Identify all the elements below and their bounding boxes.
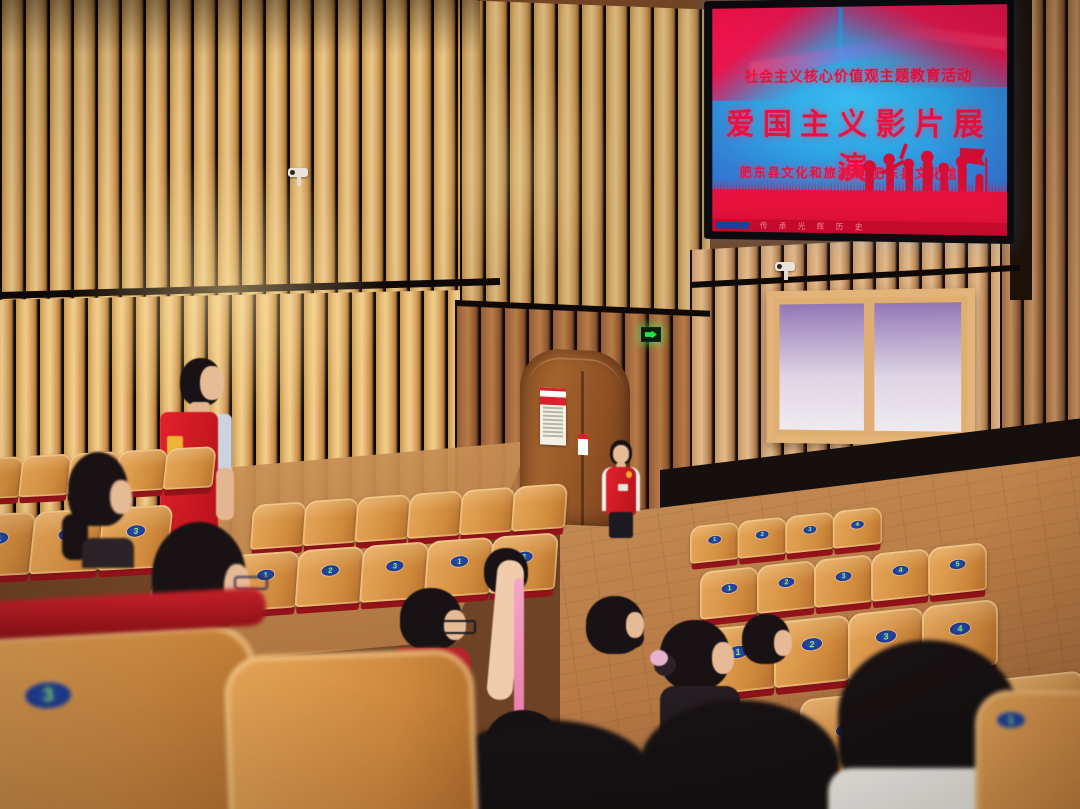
seat[interactable] [354,494,411,543]
seat[interactable]: 4 [871,548,930,602]
fire-alarm-sign [578,434,588,455]
id-badge [618,484,628,491]
led-screen-content: 社会主义核心价值观主题教育活动 爱国主义影片展演 肥东县文化和旅游局 肥东县文化… [712,4,1007,236]
seat[interactable] [407,490,464,539]
face [110,480,132,514]
pink-toy-wand [514,578,524,728]
seat-number-badge: 1 [997,712,1025,728]
trousers [609,512,633,538]
security-camera-icon [775,262,795,280]
head [640,700,840,809]
seat[interactable]: 4 [833,506,882,549]
emergency-exit-sign [641,327,661,342]
seat[interactable] [302,498,359,547]
hair-accessory [650,650,668,666]
fire-hydrant-notice-sign [540,396,566,445]
window-pane-right [875,302,962,432]
face [712,642,734,674]
standing-volunteer-right [600,440,644,536]
auditorium-scene: 社会主义核心价值观主题教育活动 爱国主义影片展演 肥东县文化和旅游局 肥东县文化… [0,0,1080,809]
brush-streak-decor [842,17,1007,50]
seat[interactable]: 2 [757,560,816,614]
running-man-exit-icon [645,331,657,339]
seat[interactable] [459,487,516,536]
audience-member-foreground [640,700,850,809]
seat[interactable] [163,446,217,490]
wall-slats-upper-left [0,0,480,320]
ticker-tag [716,222,749,229]
audience-member [738,614,798,684]
arm [216,468,234,520]
foreground-seat-center[interactable] [223,648,479,809]
face [200,366,224,400]
seat[interactable]: 5 [928,542,987,596]
foreground-seat-right[interactable]: 1 [975,690,1080,809]
face [626,612,644,638]
audience-member [48,452,138,562]
top [82,538,134,568]
vest-flower-pin [626,471,632,478]
window-mullion [864,297,873,436]
wall-window-frame [767,288,975,446]
seat[interactable]: 2 [738,516,787,559]
seat[interactable]: 3 [814,554,873,608]
seat[interactable]: 1 [700,566,759,620]
led-kicker-text: 社会主义核心价值观主题教育活动 [712,64,1007,86]
led-display-panel: 社会主义核心价值观主题教育活动 爱国主义影片展演 肥东县文化和旅游局 肥东县文化… [704,0,1014,244]
window-pane-left [779,303,866,430]
security-camera-icon [288,168,308,186]
head [180,358,222,406]
seat[interactable]: 3 [785,511,834,554]
seat-number-badge: 3 [24,681,71,709]
seat[interactable] [511,483,568,532]
face [613,445,629,463]
seat[interactable]: 1 [690,521,739,564]
audience-member [580,596,660,682]
led-ticker-bar: 传 承 光 辉 历 史 [712,219,1007,236]
led-ticker-text: 传 承 光 辉 历 史 [760,220,867,232]
face [774,630,792,656]
seat[interactable]: 2 [295,546,365,608]
